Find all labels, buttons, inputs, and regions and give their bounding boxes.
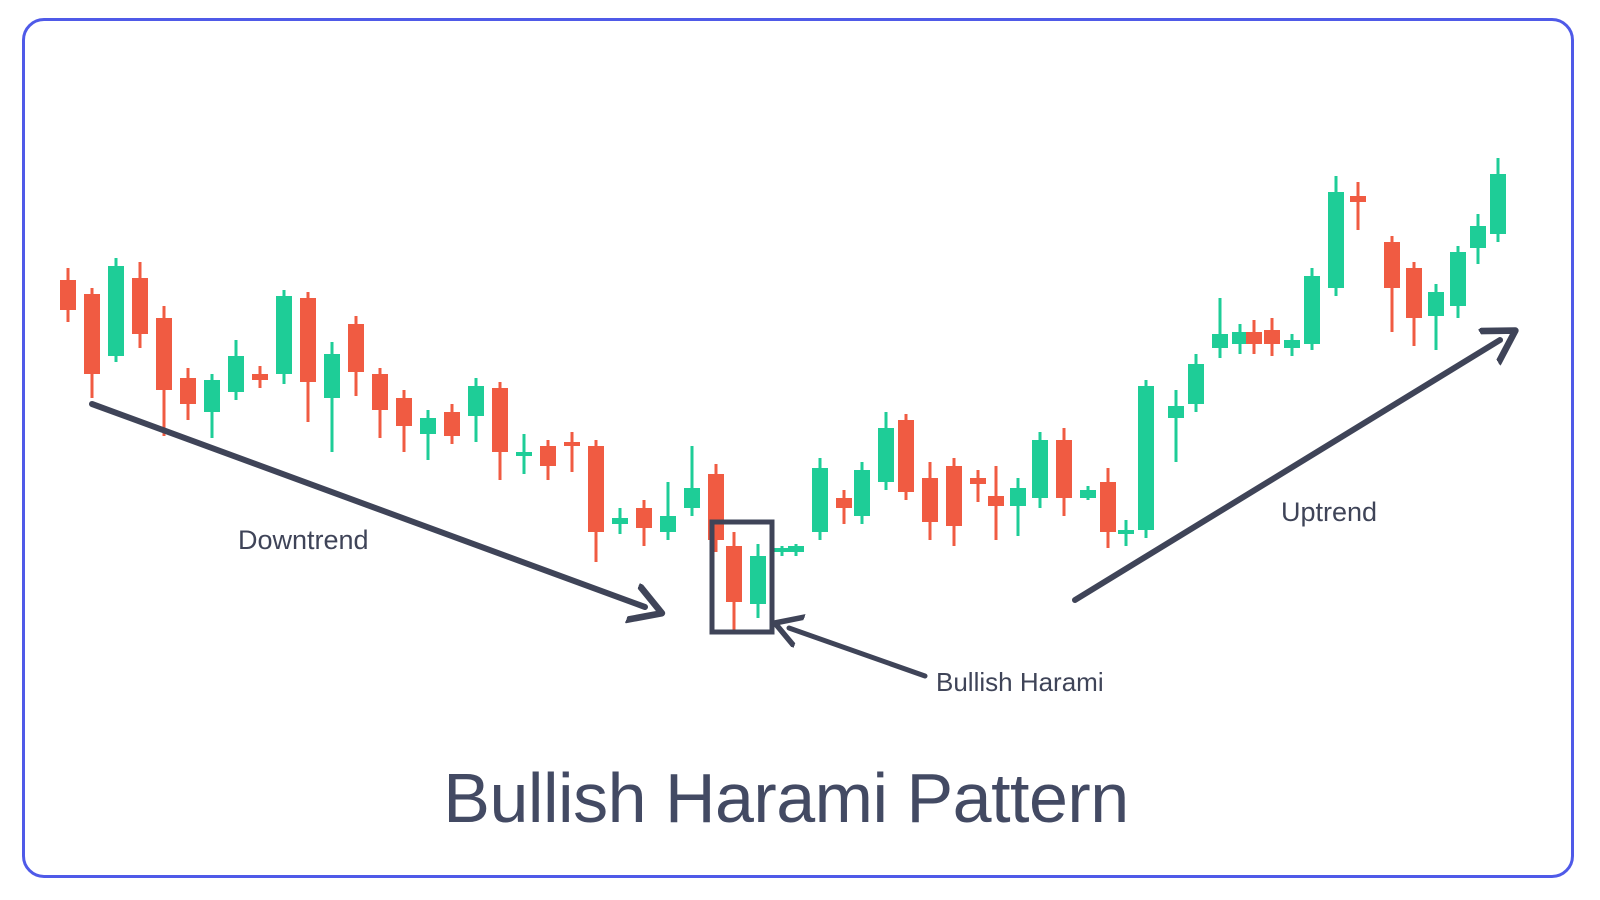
candle-body [854,470,870,516]
candlestick [1080,486,1096,500]
candle-body [564,442,580,446]
candle-body [636,508,652,528]
candlestick [156,306,172,436]
candle-body [1080,490,1096,498]
candlestick [228,340,244,400]
candlestick [396,390,412,452]
candle-wick [571,432,574,472]
candle-body [1428,292,1444,316]
candle-body [1212,334,1228,348]
candle-body [726,546,742,602]
candlestick [774,546,790,556]
candlestick [1232,324,1248,354]
candlestick [1212,298,1228,358]
candlestick [1284,334,1300,356]
candle-body [588,446,604,532]
candlestick [1490,158,1506,242]
candlestick [252,366,268,388]
candle-body [788,546,804,552]
candle-body [492,388,508,452]
candle-body [1232,332,1248,344]
uptrend-label: Uptrend [1281,497,1377,527]
candlestick [1188,354,1204,412]
candlestick [588,440,604,562]
candle-body [836,498,852,508]
candle-body [516,452,532,456]
candlestick [540,440,556,480]
candlestick [1118,520,1134,546]
candle-body [612,518,628,524]
candlestick [922,462,938,540]
candlestick [60,268,76,322]
candle-wick [977,470,980,502]
page-title: Bullish Harami Pattern [443,759,1128,837]
candlestick [132,262,148,348]
candle-body [1304,276,1320,344]
candlestick [564,432,580,472]
candle-body [324,354,340,398]
candlestick [420,410,436,460]
candlestick [1100,468,1116,548]
candle-body [1450,252,1466,306]
candle-wick [427,410,430,460]
candle-body [1246,332,1262,344]
candlestick [300,292,316,422]
candle-body [1328,192,1344,288]
candlestick [750,544,766,618]
candle-body [252,374,268,380]
candle-body [812,468,828,532]
candle-body [774,548,790,552]
candle-body [898,420,914,492]
candle-body [1056,440,1072,498]
candle-body [1032,440,1048,498]
candle-body [1470,226,1486,248]
candlestick [492,382,508,480]
candlestick [444,404,460,444]
candle-body [1384,242,1400,288]
candlestick [1350,182,1366,230]
candlestick [1264,318,1280,356]
candle-body [1188,364,1204,404]
candlestick [372,368,388,438]
candlestick-chart: Downtrend Uptrend Bullish Harami Bullish… [0,0,1600,900]
candles-layer [60,158,1506,632]
candlestick [84,288,100,398]
candlestick [836,490,852,524]
candlestick [1304,268,1320,350]
candle-wick [1219,298,1222,358]
candle-body [180,378,196,404]
candle-body [276,296,292,374]
candle-body [228,356,244,392]
candle-body [420,418,436,434]
candle-body [1406,268,1422,318]
candlestick [636,500,652,546]
candlestick [1450,246,1466,318]
candlestick [946,458,962,546]
candle-body [1100,482,1116,532]
candlestick [348,316,364,396]
candlestick [1168,390,1184,462]
candle-body [372,374,388,410]
candle-body [970,478,986,484]
candlestick [1384,236,1400,332]
candle-body [946,466,962,526]
candlestick [468,378,484,442]
candle-body [988,496,1004,506]
candlestick [180,368,196,420]
candlestick [1428,284,1444,350]
candlestick [1328,176,1344,296]
candlestick [660,482,676,540]
candle-body [1138,386,1154,530]
candlestick [612,508,628,534]
candle-body [684,488,700,508]
candle-body [750,556,766,604]
candlestick [204,374,220,438]
candle-body [1264,330,1280,344]
candlestick [684,446,700,516]
candle-body [1284,340,1300,348]
candlestick [516,434,532,474]
candlestick [898,414,914,500]
candle-wick [1017,478,1020,536]
candle-body [60,280,76,310]
candlestick [788,544,804,556]
candlestick [878,412,894,490]
candle-body [1168,406,1184,418]
candle-body [300,298,316,382]
candlestick [324,342,340,452]
candle-body [84,294,100,374]
candlestick [812,458,828,540]
candle-body [156,318,172,390]
candle-body [540,446,556,466]
candle-body [348,324,364,372]
candlestick [1246,320,1262,354]
candlestick [1470,214,1486,264]
downtrend-arrow [92,404,645,607]
figure-root: Downtrend Uptrend Bullish Harami Bullish… [0,0,1600,900]
candle-body [132,278,148,334]
labels-layer: Downtrend Uptrend Bullish Harami [238,497,1377,697]
bullish-harami-pointer-arrow [789,628,925,676]
candle-body [660,516,676,532]
candle-body [444,412,460,436]
candlestick [970,470,986,502]
candle-body [108,266,124,356]
bullish-harami-label: Bullish Harami [936,667,1104,697]
candlestick [1056,428,1072,516]
candle-body [1118,530,1134,534]
candle-wick [1175,390,1178,462]
downtrend-label: Downtrend [238,525,369,555]
candlestick [1032,432,1048,508]
candlestick [1010,478,1026,536]
candle-body [396,398,412,426]
candlestick [854,462,870,524]
candlestick [1406,262,1422,346]
candle-wick [1357,182,1360,230]
candlestick [988,466,1004,540]
candlestick [726,532,742,632]
candle-body [204,380,220,412]
candle-body [1010,488,1026,506]
candle-body [878,428,894,482]
candlestick [1138,380,1154,538]
candle-body [922,478,938,522]
candlestick [108,258,124,362]
candle-body [1350,196,1366,202]
candle-body [468,386,484,416]
candlestick [276,290,292,384]
candle-body [1490,174,1506,234]
